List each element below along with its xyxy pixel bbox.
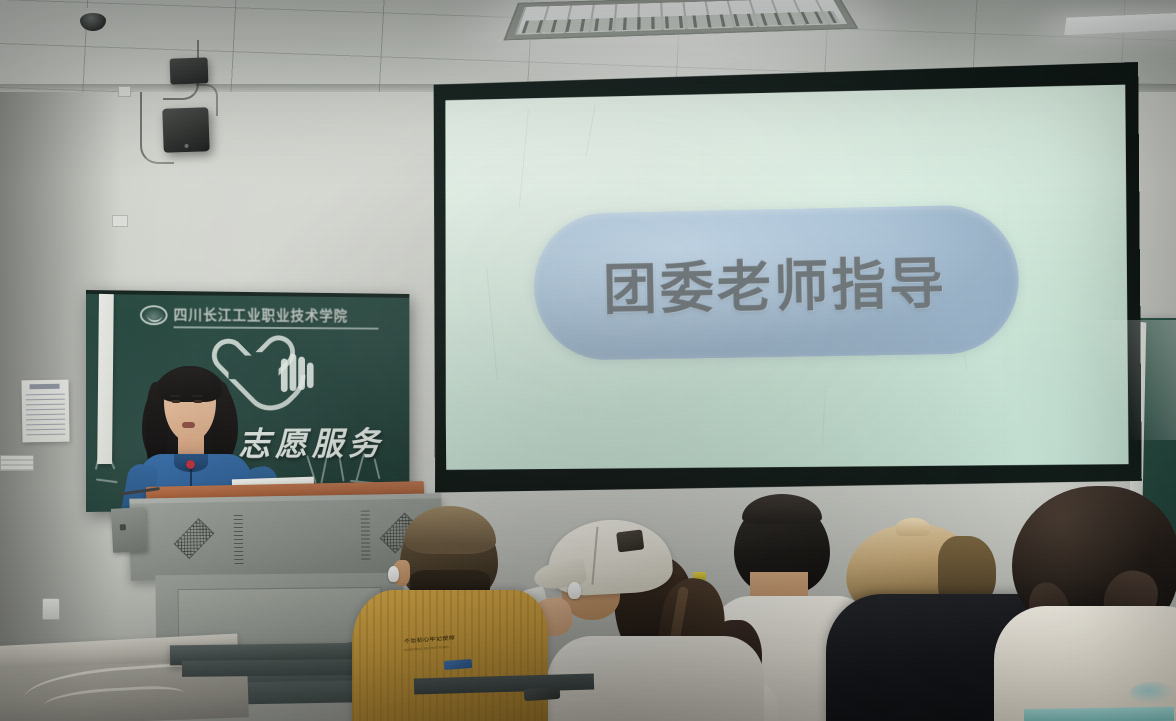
student4-hair-tuft xyxy=(896,518,930,536)
slide-title-text: 团委老师指导 xyxy=(603,240,948,327)
lectern-vent-slits-left xyxy=(234,515,244,567)
projection-screen[interactable]: 团委老师指导 xyxy=(432,62,1142,492)
student1-hair-top xyxy=(404,506,496,554)
student-white-cap xyxy=(528,520,758,721)
dome-security-camera-icon xyxy=(78,8,108,34)
desk-front-left-2 xyxy=(182,659,354,677)
wall-outlet-plate-2 xyxy=(112,215,128,227)
presenter-eye-right xyxy=(194,400,202,403)
projection-screen-surface: 团委老师指导 xyxy=(443,85,1129,470)
sheet-header-block xyxy=(30,384,60,390)
student1-torso xyxy=(352,590,548,721)
mobile-phone-on-desk xyxy=(524,687,561,701)
student5-shirt-print xyxy=(1130,682,1176,704)
student1-brand-tag xyxy=(444,659,473,670)
diamond-mesh-vent-left xyxy=(174,518,215,559)
wall-speaker-lower-icon xyxy=(162,107,210,153)
student2-earbud-icon xyxy=(568,582,581,599)
posted-schedule-sheet xyxy=(21,380,69,443)
cap-seam xyxy=(591,527,598,585)
presenter-mouth xyxy=(182,422,195,428)
wall-outlet-plate xyxy=(118,86,131,97)
presenter-badge xyxy=(186,460,195,469)
lectern-control-box[interactable] xyxy=(111,507,147,553)
floor-outlet-plate xyxy=(42,598,60,620)
cap-patch xyxy=(616,529,644,552)
presenter-brow-right xyxy=(192,395,203,397)
desk-right-teal-3 xyxy=(1024,707,1174,721)
camera-dome xyxy=(80,13,106,31)
paper-strip-left xyxy=(97,294,114,464)
student-foreground-right xyxy=(1012,486,1176,721)
presenter-brow-left xyxy=(170,395,181,397)
wall-speaker-upper-icon xyxy=(170,57,209,84)
classroom-scene: 四川长江工业职业技术学院 志愿服务 团委老师指导 xyxy=(0,0,1176,721)
presenter-eye-left xyxy=(172,400,180,403)
slide-title-pill: 团委老师指导 xyxy=(533,204,1020,361)
wall-vent-grille xyxy=(0,455,34,471)
student1-earbud-icon xyxy=(388,566,399,582)
